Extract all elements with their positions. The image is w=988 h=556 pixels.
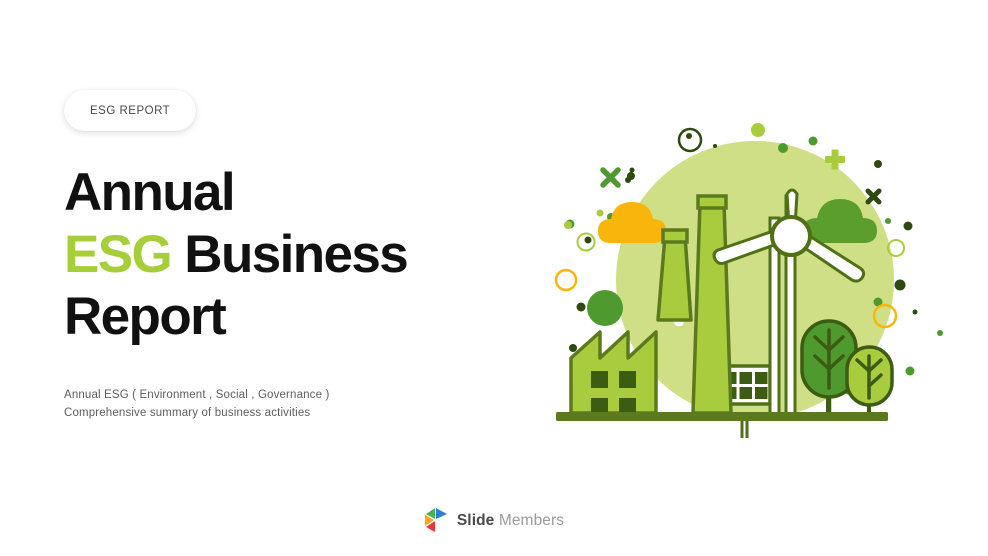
title-line-3: Report	[64, 287, 225, 346]
page-title: Annual ESG Business Report	[64, 162, 494, 348]
title-accent-esg: ESG	[64, 225, 171, 284]
esg-report-badge[interactable]: ESG REPORT	[64, 90, 196, 131]
factory-building	[571, 332, 656, 414]
slide-members-pinwheel-icon	[424, 507, 450, 534]
title-line-2-rest: Business	[184, 225, 407, 284]
factory-chimney-short	[658, 230, 691, 320]
factory-chimney-tall	[693, 196, 731, 413]
badge-label: ESG REPORT	[90, 105, 170, 117]
decorative-ring-top	[679, 129, 701, 151]
tree-small	[847, 347, 892, 418]
title-block: ESG REPORT Annual ESG Business Report An…	[64, 90, 494, 423]
slide-canvas: ESG REPORT Annual ESG Business Report An…	[0, 0, 988, 556]
brand-name-light: Members	[499, 512, 564, 529]
illustration-svg	[548, 118, 958, 438]
decorative-x-left	[603, 170, 618, 185]
decorative-x-right	[868, 191, 879, 202]
ground-line	[556, 412, 888, 421]
esg-illustration	[548, 118, 958, 438]
brand-logo: Slide Members	[0, 507, 988, 534]
brand-name-bold: Slide	[457, 512, 495, 529]
subtitle: Annual ESG ( Environment , Social , Gove…	[64, 387, 494, 423]
title-line-1: Annual	[64, 163, 234, 222]
brand-logo-text: Slide Members	[457, 512, 564, 530]
subtitle-line-1: Annual ESG ( Environment , Social , Gove…	[64, 389, 329, 401]
subtitle-line-2: Comprehensive summary of business activi…	[64, 405, 494, 423]
